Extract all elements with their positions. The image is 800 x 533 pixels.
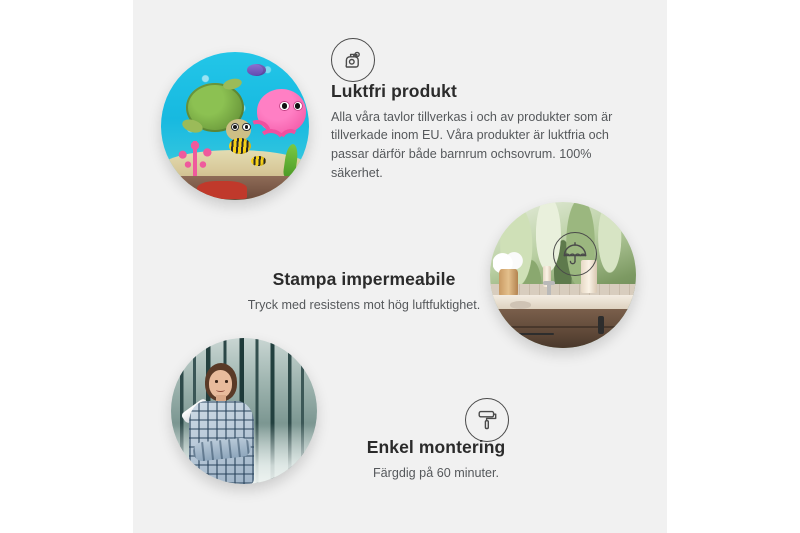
cabinet-handle [598, 316, 604, 334]
feature-title: Enkel montering [301, 436, 571, 459]
feature-easy-mounting: Enkel montering Färgdig på 60 minuter. [301, 436, 571, 482]
coral-icon [173, 141, 217, 179]
photo-bottom-accent [197, 181, 247, 199]
feature-description: Färgdig på 60 minuter. [301, 464, 571, 483]
drawer-handle [516, 333, 554, 335]
woman-with-roller-illustration [171, 338, 317, 484]
drawer-divider [490, 326, 636, 328]
vanity-cabinet [490, 309, 636, 348]
woman-eye [225, 380, 228, 382]
octopus-eye [279, 101, 289, 111]
woman-eye [215, 380, 218, 382]
fish-icon [247, 64, 266, 76]
umbrella-icon [553, 232, 597, 276]
feature-image-easy-mounting [171, 338, 317, 484]
feature-title: Stampa impermeabile [199, 268, 529, 291]
feature-image-odour-free [161, 52, 309, 200]
feature-description: Alla våra tavlor tillverkas i och av pro… [331, 108, 643, 183]
feature-odour-free: Luktfri produkt Alla våra tavlor tillver… [331, 80, 643, 182]
feature-water-resistant: Stampa impermeabile Tryck med resistens … [199, 268, 529, 314]
infographic-page: Luktfri produkt Alla våra tavlor tillver… [0, 0, 800, 533]
feature-description: Tryck med resistens mot hög luftfuktighe… [199, 296, 529, 315]
turtle-eye [231, 123, 239, 131]
underwater-scene-illustration [161, 52, 309, 200]
woman-smile [216, 388, 225, 392]
content-panel: Luktfri produkt Alla våra tavlor tillver… [133, 0, 667, 533]
feature-title: Luktfri produkt [331, 80, 643, 103]
fish-icon [251, 156, 266, 166]
no-smell-icon [331, 38, 375, 82]
woman-face [209, 370, 232, 398]
